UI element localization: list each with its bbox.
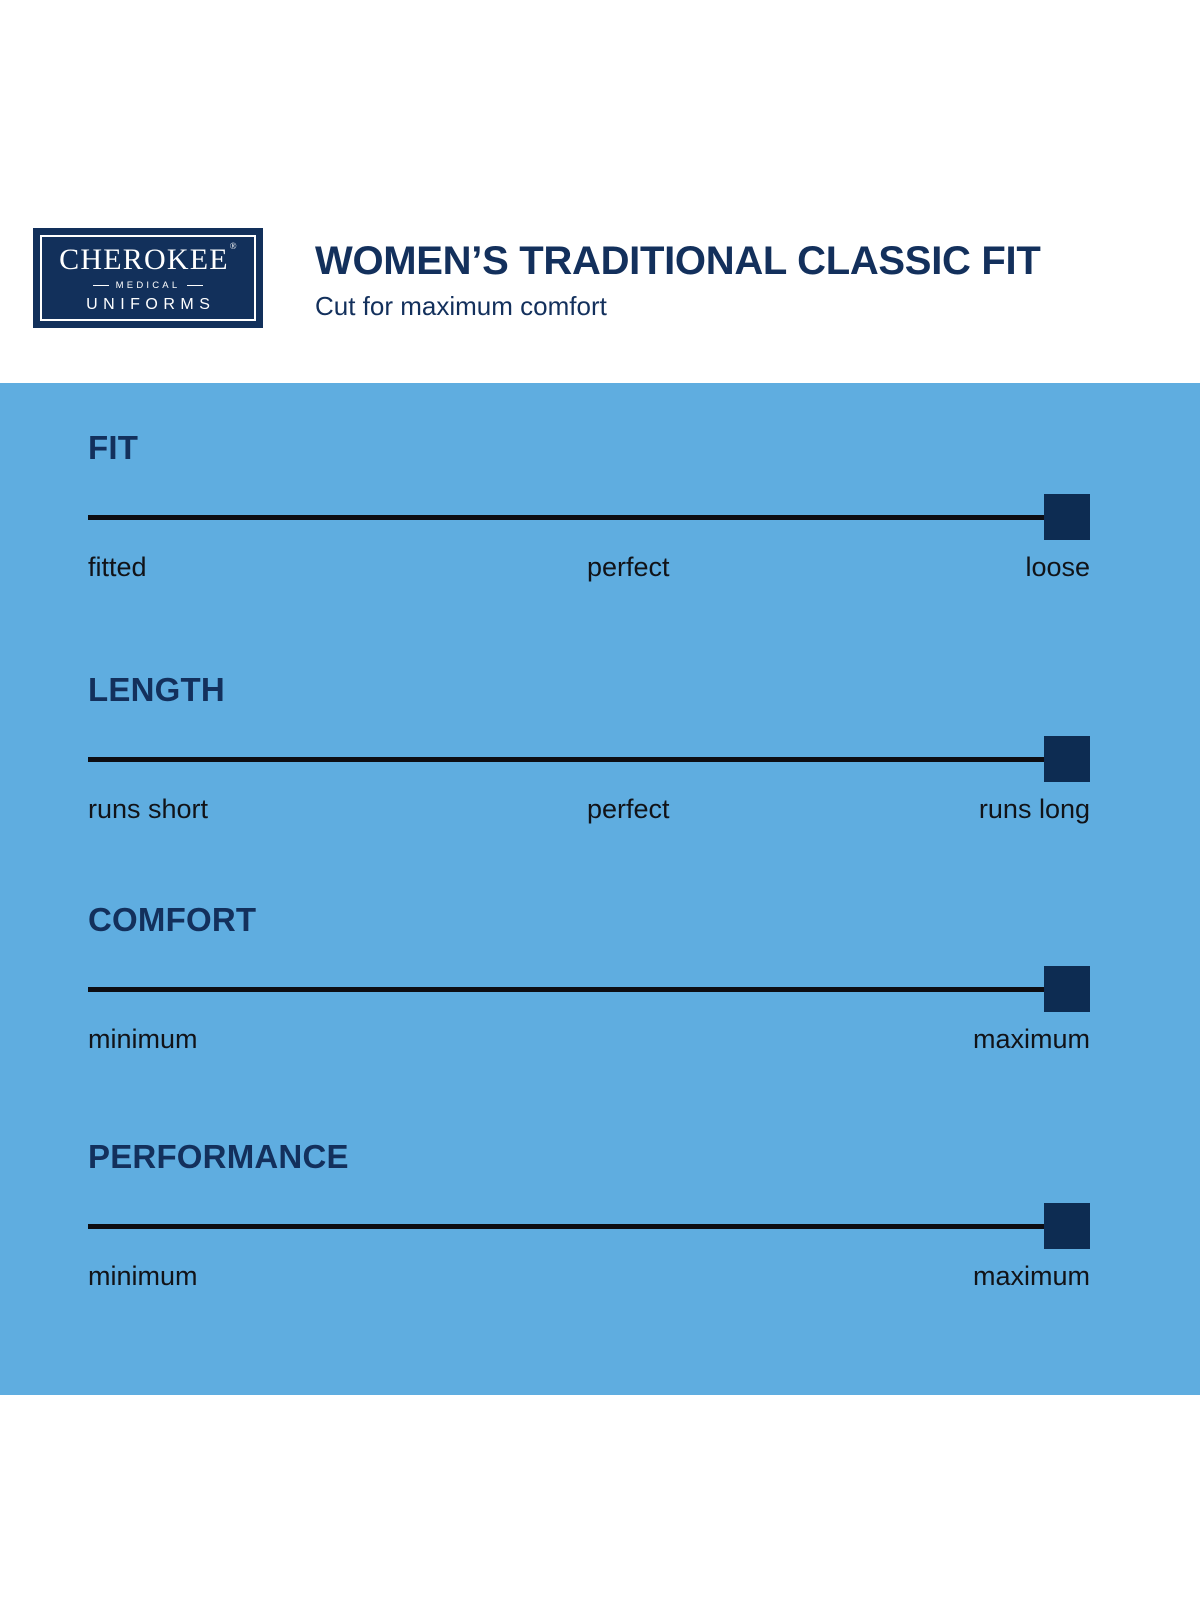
meter-performance: PERFORMANCE minimum maximum <box>88 1140 1090 1298</box>
meter-heading-performance: PERFORMANCE <box>88 1140 1090 1173</box>
meter-comfort: COMFORT minimum maximum <box>88 903 1090 1061</box>
meter-heading-length: LENGTH <box>88 673 1090 706</box>
meter-label-left-performance: minimum <box>88 1258 198 1294</box>
meter-label-right-length: runs long <box>979 791 1090 827</box>
meter-labels-length: runs short perfect runs long <box>88 791 1090 831</box>
meter-label-middle-fit: perfect <box>587 549 670 585</box>
meter-heading-comfort: COMFORT <box>88 903 1090 936</box>
meter-handle-length[interactable] <box>1044 736 1090 782</box>
logo-rule-left-icon <box>93 285 109 287</box>
meter-labels-comfort: minimum maximum <box>88 1021 1090 1061</box>
fit-meters-panel: FIT fitted perfect loose LENGTH runs sho… <box>0 383 1200 1395</box>
meter-slider-fit[interactable] <box>88 494 1090 540</box>
meter-label-right-performance: maximum <box>973 1258 1090 1294</box>
fit-guide-page: CHEROKEE® MEDICAL UNIFORMS WOMEN’S TRADI… <box>0 0 1200 1600</box>
meter-slider-length[interactable] <box>88 736 1090 782</box>
meter-handle-performance[interactable] <box>1044 1203 1090 1249</box>
logo-brand-text: CHEROKEE <box>59 243 229 276</box>
page-subtitle: Cut for maximum comfort <box>315 291 1041 322</box>
meter-fit: FIT fitted perfect loose <box>88 431 1090 589</box>
logo-brand-name: CHEROKEE® <box>59 245 237 275</box>
meter-handle-fit[interactable] <box>1044 494 1090 540</box>
logo-inner-frame: CHEROKEE® MEDICAL UNIFORMS <box>40 235 256 321</box>
title-block: WOMEN’S TRADITIONAL CLASSIC FIT Cut for … <box>315 240 1041 322</box>
logo-rule-right-icon <box>187 285 203 287</box>
meter-labels-performance: minimum maximum <box>88 1258 1090 1298</box>
meter-track-fit <box>88 515 1054 520</box>
page-title: WOMEN’S TRADITIONAL CLASSIC FIT <box>315 240 1041 282</box>
meter-label-left-comfort: minimum <box>88 1021 198 1057</box>
meter-handle-comfort[interactable] <box>1044 966 1090 1012</box>
meter-track-performance <box>88 1224 1054 1229</box>
cherokee-medical-uniforms-logo: CHEROKEE® MEDICAL UNIFORMS <box>33 228 263 328</box>
logo-uniforms-text: UNIFORMS <box>81 297 216 313</box>
page-header: CHEROKEE® MEDICAL UNIFORMS WOMEN’S TRADI… <box>0 0 1200 383</box>
meter-label-left-fit: fitted <box>88 549 147 585</box>
meter-label-left-length: runs short <box>88 791 208 827</box>
meter-labels-fit: fitted perfect loose <box>88 549 1090 589</box>
meter-length: LENGTH runs short perfect runs long <box>88 673 1090 831</box>
footer-whitespace <box>0 1395 1200 1600</box>
logo-medical-text: MEDICAL <box>116 281 181 291</box>
meter-heading-fit: FIT <box>88 431 1090 464</box>
meter-label-middle-length: perfect <box>587 791 670 827</box>
meter-label-right-comfort: maximum <box>973 1021 1090 1057</box>
meter-slider-performance[interactable] <box>88 1203 1090 1249</box>
meter-track-length <box>88 757 1054 762</box>
logo-medical-row: MEDICAL <box>93 281 204 291</box>
registered-trademark-icon: ® <box>230 241 238 251</box>
meter-slider-comfort[interactable] <box>88 966 1090 1012</box>
meter-track-comfort <box>88 987 1054 992</box>
meter-label-right-fit: loose <box>1025 549 1090 585</box>
